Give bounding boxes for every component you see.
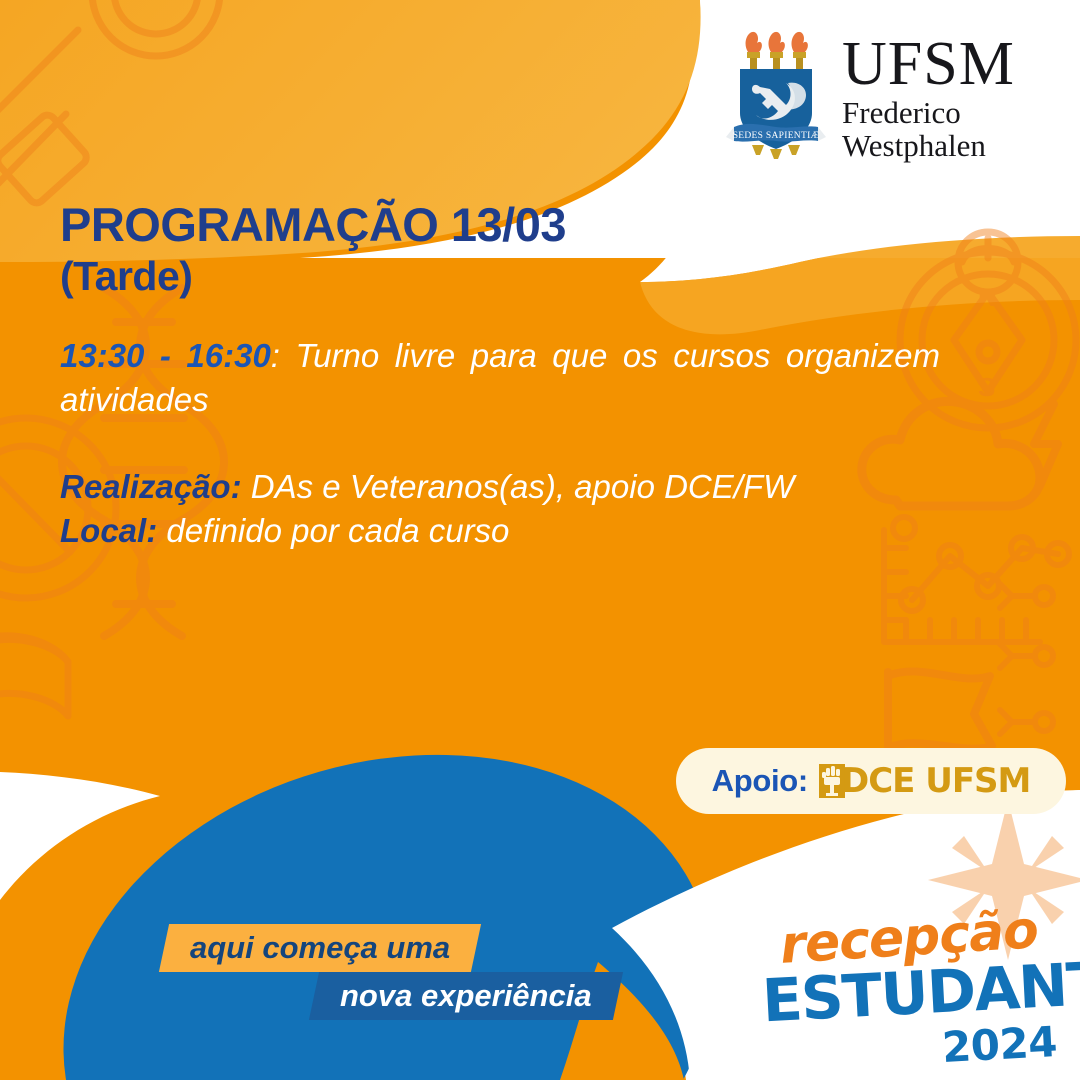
tagline-block: aqui começa uma nova experiência	[150, 918, 670, 1028]
ufsm-logo: SEDES SAPIENTIÆ UFSM Frederico Westphale…	[726, 22, 1036, 172]
meta-value-local: definido por cada curso	[157, 512, 509, 549]
shield-motto: SEDES SAPIENTIÆ	[733, 131, 820, 141]
circle-doodle-top	[92, 0, 220, 56]
ufsm-wordmark: UFSM Frederico Westphalen	[842, 33, 1015, 161]
meta-row-realizacao: Realização: DAs e Veteranos(as), apoio D…	[60, 465, 960, 509]
meta-label-realizacao: Realização:	[60, 468, 242, 505]
meta-row-local: Local: definido por cada curso	[60, 509, 960, 553]
event-year: 2024	[941, 1017, 1058, 1072]
page-title: PROGRAMAÇÃO 13/03	[60, 198, 960, 253]
recepcao-estudantil-logo: recepção ESTUDANTIL 2024	[762, 908, 1062, 1068]
ufsm-campus-line-1: Frederico	[842, 97, 1015, 128]
dce-ufsm-text: DCE UFSM	[841, 761, 1030, 801]
tagline-bar-bottom: nova experiência	[309, 972, 623, 1020]
people-glyphs	[1000, 584, 1053, 734]
apoio-label: Apoio:	[712, 763, 808, 799]
tagline-bar-top: aqui começa uma	[159, 924, 481, 972]
svg-text:N: N	[978, 282, 997, 312]
page-subtitle: (Tarde)	[60, 253, 960, 301]
schedule-entry: 13:30 - 16:30: Turno livre para que os c…	[60, 334, 940, 421]
dce-ufsm-logo: DCE UFSM	[819, 761, 1030, 801]
content-text-block: PROGRAMAÇÃO 13/03 (Tarde) 13:30 - 16:30:…	[60, 198, 960, 552]
ufsm-crest-icon: SEDES SAPIENTIÆ	[726, 27, 826, 167]
meta-value-realizacao: DAs e Veteranos(as), apoio DCE/FW	[242, 468, 795, 505]
meta-label-local: Local:	[60, 512, 157, 549]
book-icon	[0, 636, 68, 716]
tagline-line-1: aqui começa uma	[190, 930, 450, 966]
schedule-time-range: 13:30 - 16:30	[60, 337, 271, 374]
tagline-line-2: nova experiência	[340, 978, 592, 1014]
ufsm-campus-line-2: Westphalen	[842, 130, 1015, 161]
torch-flames	[746, 32, 808, 52]
ufsm-acronym: UFSM	[842, 33, 1015, 95]
svg-text:S: S	[978, 372, 995, 402]
microscope-icon	[0, 30, 89, 206]
schedule-separator: :	[271, 337, 296, 374]
torch-handles	[747, 52, 806, 70]
poster-canvas: N S	[0, 0, 1080, 1080]
apoio-badge: Apoio: DCE UFSM	[676, 748, 1066, 814]
